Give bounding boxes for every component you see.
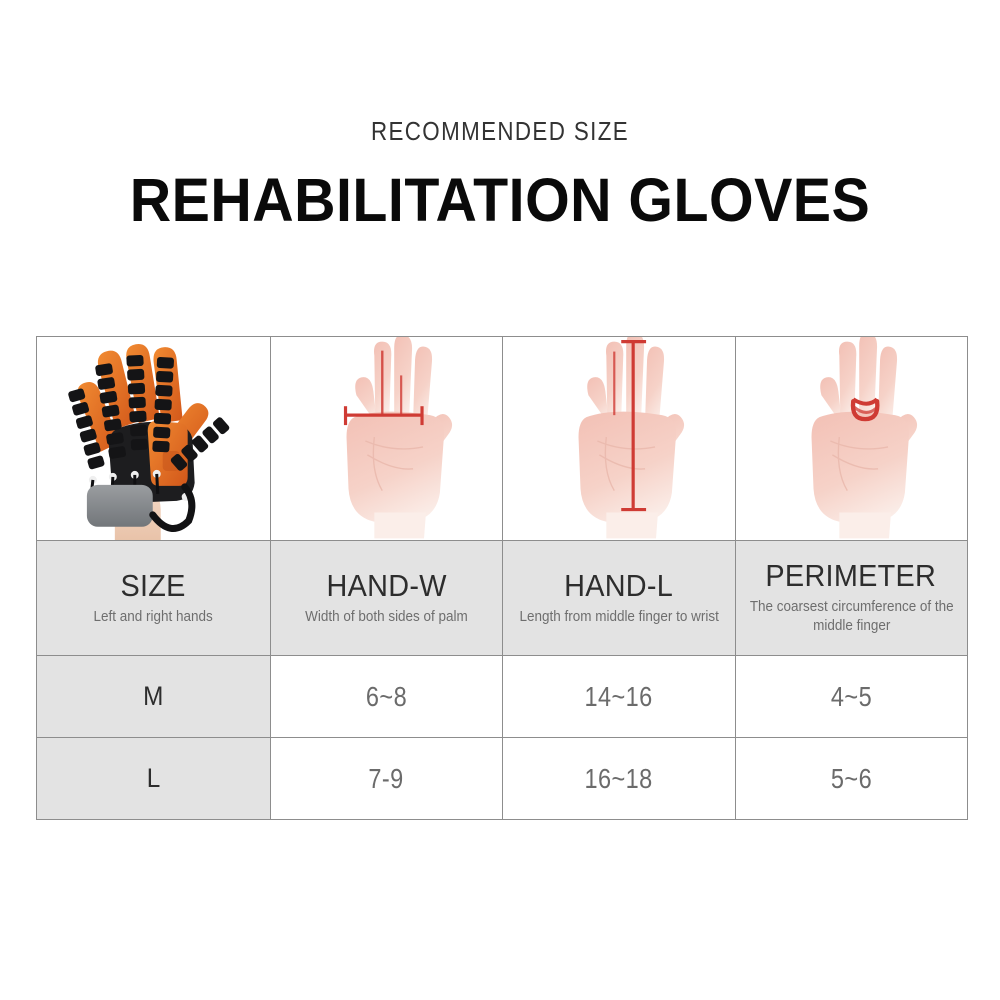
hand-length-diagram: [503, 337, 735, 540]
perimeter-value: 5~6: [831, 765, 872, 793]
column-header-perimeter: PERIMETER The coarsest circumference of …: [735, 541, 968, 655]
page-title: REHABILITATION GLOVES: [30, 170, 970, 231]
hand-width-value: 6~8: [366, 683, 407, 711]
column-subtitle: Left and right hands: [88, 608, 218, 627]
cell-perimeter: 5~6: [735, 738, 968, 819]
column-header-size: SIZE Left and right hands: [37, 541, 270, 655]
cell-hand-l: 16~18: [502, 738, 735, 819]
cell-perimeter: 4~5: [735, 656, 968, 737]
hand-length-value: 16~18: [585, 765, 653, 793]
hand-width-diagram: [271, 337, 503, 540]
column-subtitle: The coarsest circumference of the middle…: [744, 598, 959, 636]
column-header-hand-l: HAND-L Length from middle finger to wris…: [502, 541, 735, 655]
column-subtitle: Length from middle finger to wrist: [513, 608, 724, 627]
column-title: HAND-W: [326, 570, 446, 601]
table-row: M 6~8 14~16 4~5: [37, 655, 967, 737]
column-title: PERIMETER: [766, 560, 937, 591]
cell-hand-w: 7-9: [270, 738, 503, 819]
table-header-row: SIZE Left and right hands HAND-W Width o…: [37, 540, 967, 655]
cell-hand-length-illustration: [502, 337, 735, 540]
perimeter-value: 4~5: [831, 683, 872, 711]
finger-perimeter-diagram: [736, 337, 968, 540]
table-row: L 7-9 16~18 5~6: [37, 737, 967, 819]
column-subtitle: Width of both sides of palm: [299, 608, 473, 627]
cell-perimeter-illustration: [735, 337, 968, 540]
column-title: HAND-L: [564, 570, 673, 601]
hand-width-value: 7-9: [369, 765, 404, 793]
size-value: M: [143, 683, 163, 710]
size-value: L: [146, 765, 160, 792]
column-header-hand-w: HAND-W Width of both sides of palm: [270, 541, 503, 655]
size-chart-table: SIZE Left and right hands HAND-W Width o…: [36, 336, 968, 820]
illustration-row: [37, 337, 967, 540]
page-eyebrow: RECOMMENDED SIZE: [70, 118, 930, 144]
cell-hand-w: 6~8: [270, 656, 503, 737]
cell-hand-width-illustration: [270, 337, 503, 540]
cell-hand-l: 14~16: [502, 656, 735, 737]
cell-size: L: [37, 738, 270, 819]
cell-size: M: [37, 656, 270, 737]
cell-glove-illustration: [37, 337, 270, 540]
column-title: SIZE: [121, 570, 186, 601]
page-header: RECOMMENDED SIZE REHABILITATION GLOVES: [0, 0, 1000, 231]
rehabilitation-glove-photo: [37, 337, 270, 540]
hand-length-value: 14~16: [585, 683, 653, 711]
